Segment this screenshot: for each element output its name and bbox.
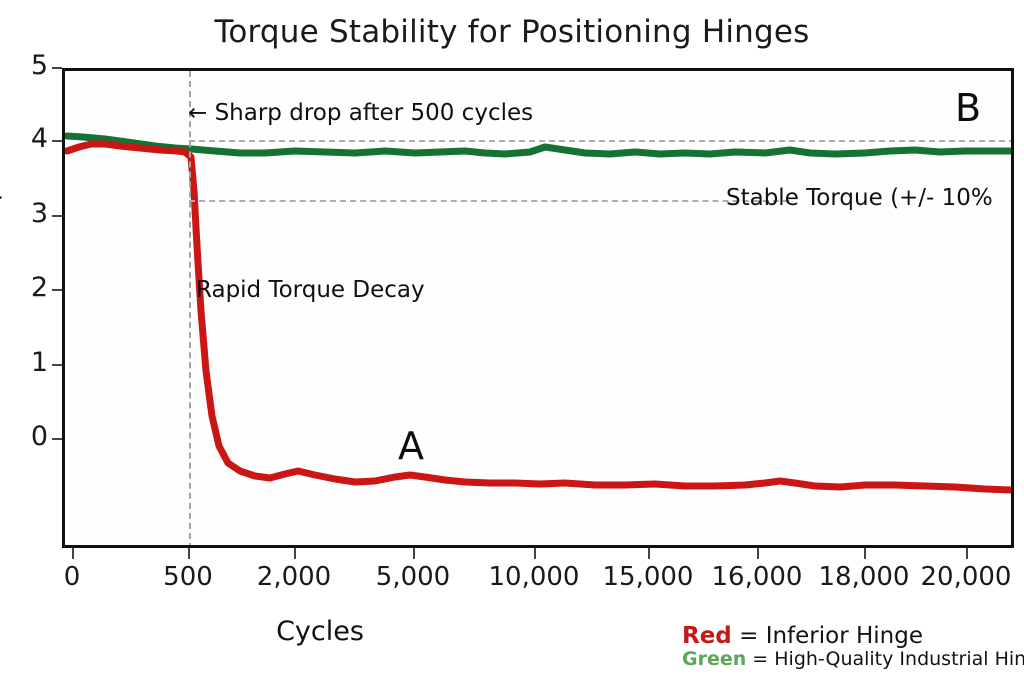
legend-item-red: Red = Inferior Hinge — [682, 624, 1024, 649]
y-tick-mark-4 — [52, 140, 62, 142]
legend-label-green: High-Quality Industrial Hinge — [774, 648, 1024, 670]
annotation-sharp-drop: ← Sharp drop after 500 cycles — [188, 100, 533, 126]
x-tick-mark-3 — [413, 548, 415, 559]
chart-legend: Red = Inferior Hinge Green = High-Qualit… — [682, 624, 1024, 669]
x-tick-mark-8 — [966, 548, 968, 559]
legend-equals-red: = — [732, 623, 766, 649]
series-green-line — [67, 136, 1011, 154]
y-tick-label-2: 2 — [2, 273, 48, 303]
x-tick-mark-2 — [294, 548, 296, 559]
y-tick-label-5: 5 — [2, 51, 48, 81]
x-axis-label: Cycles — [0, 616, 640, 647]
chart-figure: Torque Stability for Positioning Hinges … — [0, 0, 1024, 687]
series-marker-b: B — [955, 86, 981, 130]
legend-swatch-red: Red — [682, 623, 732, 649]
chart-title: Torque Stability for Positioning Hinges — [0, 14, 1024, 50]
x-tick-mark-6 — [757, 548, 759, 559]
y-tick-mark-3 — [52, 215, 62, 217]
y-tick-label-0: 0 — [2, 422, 48, 452]
y-tick-mark-0 — [52, 438, 62, 440]
x-tick-mark-0 — [72, 548, 74, 559]
x-tick-mark-1 — [188, 548, 190, 559]
series-lines — [65, 71, 1011, 545]
plot-area — [62, 68, 1014, 548]
annotation-rapid-decay: Rapid Torque Decay — [196, 277, 425, 303]
drop-cycle-reference-line — [189, 71, 191, 545]
x-tick-mark-4 — [534, 548, 536, 559]
nominal-torque-reference-line — [189, 140, 1011, 142]
stable-band-reference-line — [189, 200, 789, 202]
legend-swatch-green: Green — [682, 648, 746, 670]
legend-item-green: Green = High-Quality Industrial Hinge — [682, 649, 1024, 670]
x-tick-label-8: 20,000 — [896, 562, 1024, 592]
legend-label-red: Inferior Hinge — [766, 623, 923, 649]
annotation-stable-torque: Stable Torque (+/- 10% — [726, 185, 993, 211]
x-tick-label-3: 5,000 — [343, 562, 483, 592]
y-tick-label-4: 4 — [2, 124, 48, 154]
y-tick-label-3: 3 — [2, 199, 48, 229]
y-tick-mark-5 — [52, 67, 62, 69]
x-tick-mark-5 — [648, 548, 650, 559]
plot-inner — [65, 71, 1011, 545]
legend-equals-green: = — [746, 648, 774, 670]
y-tick-mark-2 — [52, 289, 62, 291]
y-tick-mark-1 — [52, 364, 62, 366]
y-tick-label-1: 1 — [2, 348, 48, 378]
series-marker-a: A — [398, 424, 424, 468]
x-tick-mark-7 — [864, 548, 866, 559]
